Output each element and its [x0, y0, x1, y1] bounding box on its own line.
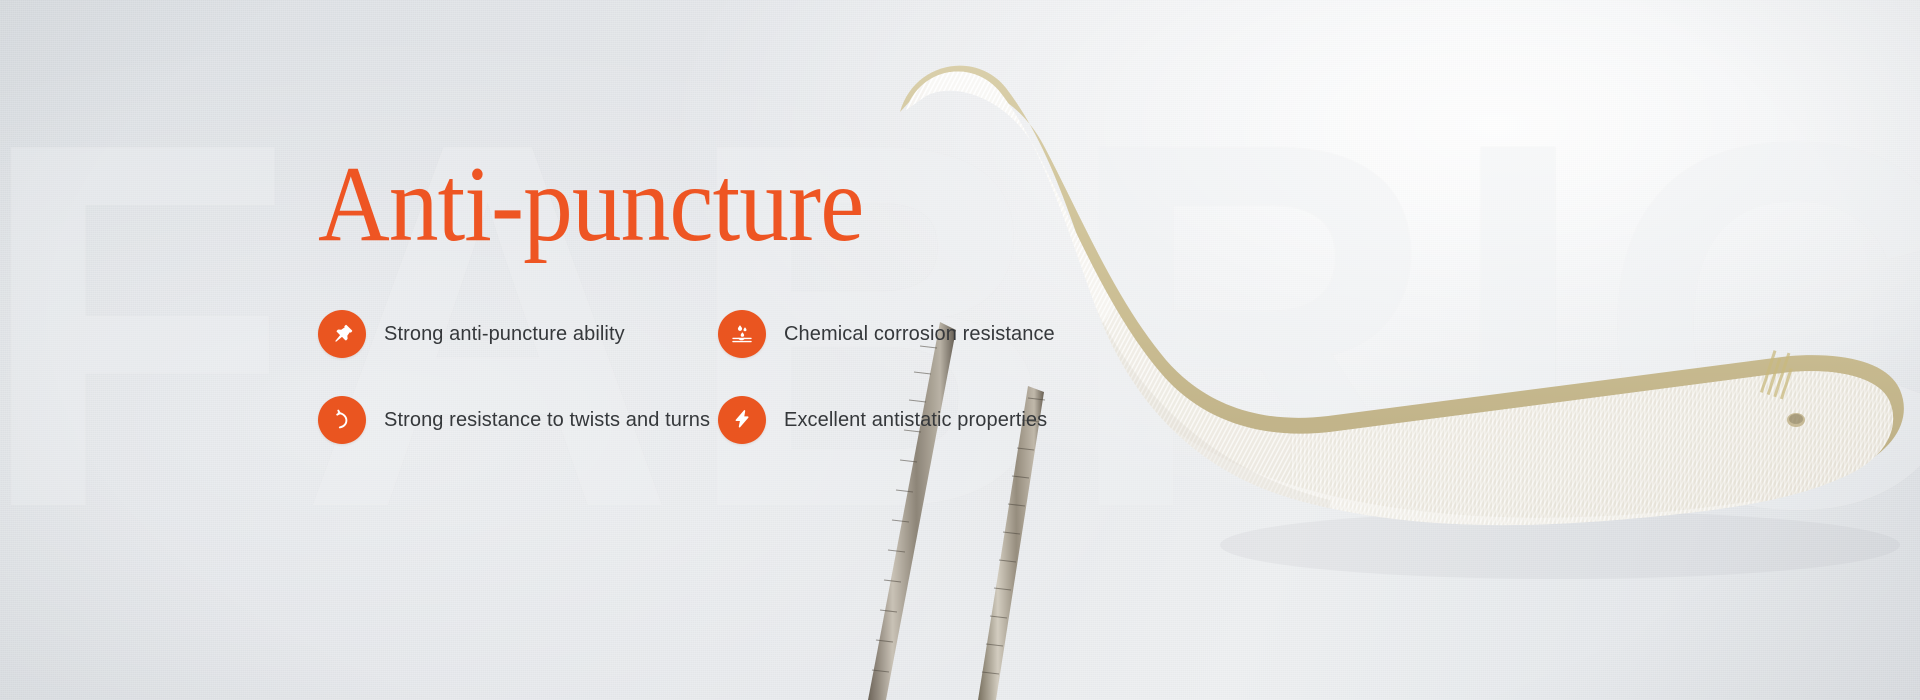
rotate-arrow-icon	[318, 396, 366, 444]
pushpin-icon	[318, 310, 366, 358]
water-droplet-repellent-icon	[718, 310, 766, 358]
feature-label: Strong resistance to twists and turns	[384, 409, 710, 432]
lightning-bolt-icon	[718, 396, 766, 444]
feature-label: Strong anti-puncture ability	[384, 323, 625, 346]
feature-label: Excellent antistatic properties	[784, 409, 1047, 432]
feature-label: Chemical corrosion resistance	[784, 323, 1055, 346]
banner-content: Anti-puncture Strong anti-puncture abili…	[318, 148, 1098, 444]
feature-item-anti-puncture: Strong anti-puncture ability	[318, 310, 718, 358]
feature-item-chemical-resistance: Chemical corrosion resistance	[718, 310, 1118, 358]
page-title: Anti-puncture	[318, 148, 1036, 262]
feature-item-twist-resistance: Strong resistance to twists and turns	[318, 396, 718, 444]
feature-item-antistatic: Excellent antistatic properties	[718, 396, 1118, 444]
anti-puncture-product-banner: F A B R I C	[0, 0, 1920, 700]
feature-list: Strong anti-puncture ability Chemical co…	[318, 310, 1098, 444]
